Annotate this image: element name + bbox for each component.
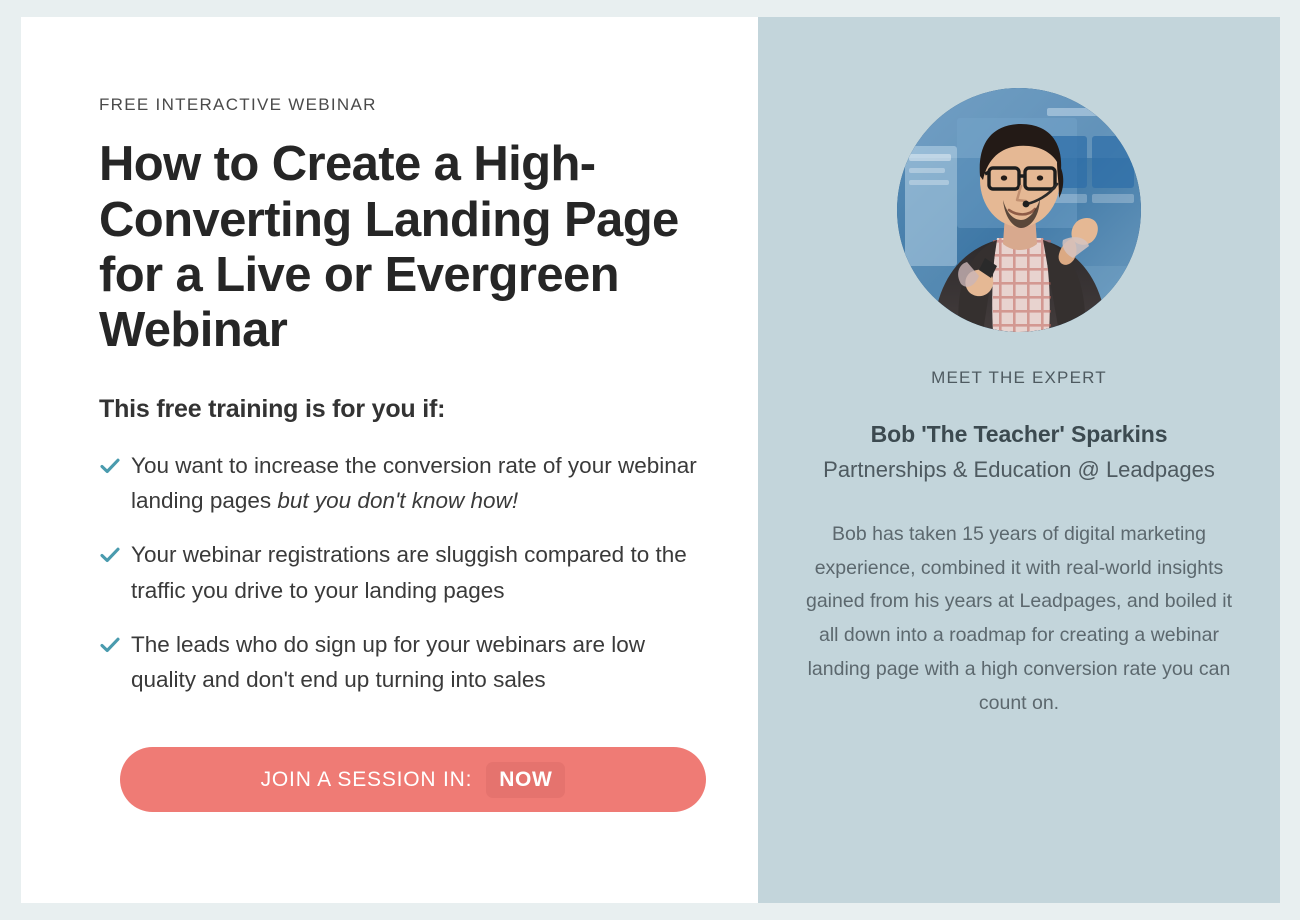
page-title: How to Create a High-Converting Landing … [99, 137, 689, 358]
expert-sidebar: MEET THE EXPERT Bob 'The Teacher' Sparki… [758, 17, 1280, 903]
join-session-label: JOIN A SESSION IN: [261, 768, 473, 792]
check-icon [99, 455, 121, 477]
list-item-label: Your webinar registrations are sluggish … [131, 537, 699, 608]
list-item-label: You want to increase the conversion rate… [131, 448, 699, 519]
check-icon [99, 634, 121, 656]
two-column-card: FREE INTERACTIVE WEBINAR How to Create a… [21, 17, 1280, 903]
qualifier-heading: This free training is for you if: [99, 395, 758, 424]
session-countdown-badge: NOW [486, 762, 565, 798]
expert-name: Bob 'The Teacher' Sparkins [802, 421, 1236, 448]
join-session-button[interactable]: JOIN A SESSION IN: NOW [120, 747, 706, 812]
check-icon [99, 544, 121, 566]
list-item: The leads who do sign up for your webina… [99, 627, 699, 698]
list-item-emphasis: but you don't know how! [277, 488, 518, 513]
eyebrow-label: FREE INTERACTIVE WEBINAR [99, 95, 758, 115]
expert-bio: Bob has taken 15 years of digital market… [802, 518, 1236, 722]
expert-eyebrow-label: MEET THE EXPERT [802, 368, 1236, 388]
list-item-label: The leads who do sign up for your webina… [131, 627, 699, 698]
list-item: Your webinar registrations are sluggish … [99, 537, 699, 608]
main-content-panel: FREE INTERACTIVE WEBINAR How to Create a… [21, 17, 758, 903]
speaker-portrait-photo [897, 88, 1141, 332]
list-item-text: The leads who do sign up for your webina… [131, 632, 645, 692]
expert-role: Partnerships & Education @ Leadpages [802, 454, 1236, 485]
list-item: You want to increase the conversion rate… [99, 448, 699, 519]
benefit-list: You want to increase the conversion rate… [99, 448, 699, 698]
webinar-registration-page: FREE INTERACTIVE WEBINAR How to Create a… [0, 0, 1300, 920]
list-item-text: Your webinar registrations are sluggish … [131, 542, 687, 602]
